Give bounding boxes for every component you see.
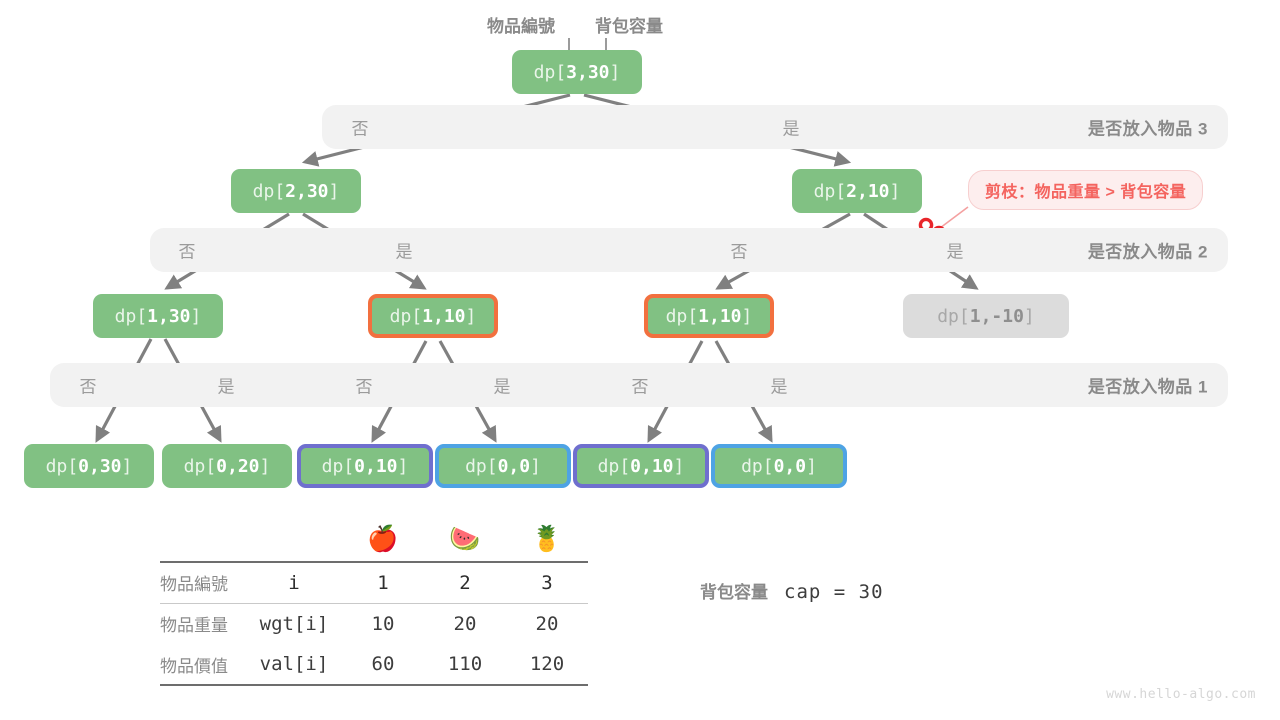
node-prefix: dp[ bbox=[937, 306, 970, 327]
diagram-canvas: 是否放入物品 3否是是否放入物品 2否是否是是否放入物品 1否是否是否是 dp[… bbox=[0, 0, 1280, 720]
node-args: 1,-10 bbox=[970, 306, 1024, 327]
top-label-1: 物品編號 bbox=[487, 12, 555, 37]
band-choice-label: 是 bbox=[771, 373, 788, 398]
node-prefix: dp[ bbox=[534, 62, 567, 83]
tree-node-dp1n10: dp[1,-10] bbox=[903, 294, 1069, 338]
decision-band-3: 是否放入物品 1否是否是否是 bbox=[50, 363, 1228, 407]
node-prefix: dp[ bbox=[465, 456, 498, 477]
items-table-wrapper: 🍎🍉🍍物品編號i123物品重量wgt[i]102020物品價值val[i]601… bbox=[160, 518, 588, 686]
table-cell: 60 bbox=[342, 644, 424, 685]
table-row-key: wgt[i] bbox=[246, 603, 342, 644]
table-item-emoji: 🍎 bbox=[342, 518, 424, 562]
tree-node-dp030: dp[0,30] bbox=[24, 444, 154, 488]
node-args: 2,10 bbox=[846, 181, 889, 202]
tree-node-dp00a: dp[0,0] bbox=[435, 444, 571, 488]
node-args: 3,30 bbox=[566, 62, 609, 83]
decision-band-1: 是否放入物品 3否是 bbox=[322, 105, 1228, 149]
table-row: 物品編號i123 bbox=[160, 562, 588, 603]
node-prefix: dp[ bbox=[46, 456, 79, 477]
prune-annotation: 剪枝：物品重量 > 背包容量 bbox=[968, 170, 1203, 210]
table-row: 物品重量wgt[i]102020 bbox=[160, 603, 588, 644]
band-title: 是否放入物品 3 bbox=[1088, 115, 1208, 140]
table-cell: 20 bbox=[424, 603, 506, 644]
node-suffix: ] bbox=[260, 456, 271, 477]
node-prefix: dp[ bbox=[666, 306, 699, 327]
capacity-note: 背包容量cap = 30 bbox=[700, 578, 884, 603]
table-emoji-spacer bbox=[246, 518, 342, 562]
band-choice-label: 否 bbox=[179, 238, 196, 263]
node-prefix: dp[ bbox=[390, 306, 423, 327]
tree-node-dp210: dp[2,10] bbox=[792, 169, 922, 213]
table-row-label: 物品價值 bbox=[160, 644, 246, 685]
node-suffix: ] bbox=[742, 306, 753, 327]
table-cell: 3 bbox=[506, 562, 588, 603]
table-item-emoji: 🍍 bbox=[506, 518, 588, 562]
node-suffix: ] bbox=[806, 456, 817, 477]
band-choice-label: 否 bbox=[731, 238, 748, 263]
tree-node-dp010b: dp[0,10] bbox=[573, 444, 709, 488]
band-choice-label: 否 bbox=[80, 373, 97, 398]
band-choice-label: 是 bbox=[783, 115, 800, 140]
band-choice-label: 是 bbox=[494, 373, 511, 398]
table-row-label: 物品編號 bbox=[160, 562, 246, 603]
capacity-note-label: 背包容量 bbox=[700, 583, 768, 602]
band-choice-label: 否 bbox=[632, 373, 649, 398]
node-suffix: ] bbox=[466, 306, 477, 327]
tree-node-dp130: dp[1,30] bbox=[93, 294, 223, 338]
band-choice-label: 是 bbox=[947, 238, 964, 263]
node-prefix: dp[ bbox=[322, 456, 355, 477]
items-table: 🍎🍉🍍物品編號i123物品重量wgt[i]102020物品價值val[i]601… bbox=[160, 518, 588, 686]
band-choice-label: 否 bbox=[352, 115, 369, 140]
node-prefix: dp[ bbox=[741, 456, 774, 477]
tree-node-dp330: dp[3,30] bbox=[512, 50, 642, 94]
decision-band-2: 是否放入物品 2否是否是 bbox=[150, 228, 1228, 272]
table-cell: 10 bbox=[342, 603, 424, 644]
node-args: 1,30 bbox=[147, 306, 190, 327]
table-cell: 1 bbox=[342, 562, 424, 603]
node-args: 2,30 bbox=[285, 181, 328, 202]
tree-node-dp020: dp[0,20] bbox=[162, 444, 292, 488]
node-suffix: ] bbox=[1024, 306, 1035, 327]
table-emoji-header-row: 🍎🍉🍍 bbox=[160, 518, 588, 562]
node-prefix: dp[ bbox=[598, 456, 631, 477]
band-title: 是否放入物品 1 bbox=[1088, 373, 1208, 398]
node-suffix: ] bbox=[890, 181, 901, 202]
table-cell: 20 bbox=[506, 603, 588, 644]
node-prefix: dp[ bbox=[115, 306, 148, 327]
tree-node-dp110a: dp[1,10] bbox=[368, 294, 498, 338]
tree-node-dp110b: dp[1,10] bbox=[644, 294, 774, 338]
node-prefix: dp[ bbox=[814, 181, 847, 202]
node-suffix: ] bbox=[329, 181, 340, 202]
node-args: 0,10 bbox=[630, 456, 673, 477]
table-emoji-spacer bbox=[160, 518, 246, 562]
table-cell: 110 bbox=[424, 644, 506, 685]
table-row-key: val[i] bbox=[246, 644, 342, 685]
table-row-label: 物品重量 bbox=[160, 603, 246, 644]
node-suffix: ] bbox=[122, 456, 133, 477]
node-suffix: ] bbox=[674, 456, 685, 477]
table-cell: 2 bbox=[424, 562, 506, 603]
band-choice-label: 是 bbox=[218, 373, 235, 398]
tree-node-dp010a: dp[0,10] bbox=[297, 444, 433, 488]
band-title: 是否放入物品 2 bbox=[1088, 238, 1208, 263]
band-choice-label: 否 bbox=[356, 373, 373, 398]
node-args: 0,0 bbox=[774, 456, 807, 477]
table-item-emoji: 🍉 bbox=[424, 518, 506, 562]
node-args: 0,30 bbox=[78, 456, 121, 477]
node-args: 0,20 bbox=[216, 456, 259, 477]
node-suffix: ] bbox=[398, 456, 409, 477]
table-row: 物品價值val[i]60110120 bbox=[160, 644, 588, 685]
node-prefix: dp[ bbox=[253, 181, 286, 202]
node-args: 1,10 bbox=[698, 306, 741, 327]
node-prefix: dp[ bbox=[184, 456, 217, 477]
band-choice-label: 是 bbox=[396, 238, 413, 263]
top-label-2: 背包容量 bbox=[595, 12, 663, 37]
tree-node-dp00b: dp[0,0] bbox=[711, 444, 847, 488]
node-suffix: ] bbox=[610, 62, 621, 83]
node-suffix: ] bbox=[191, 306, 202, 327]
watermark: www.hello-algo.com bbox=[1106, 687, 1256, 702]
tree-node-dp230: dp[2,30] bbox=[231, 169, 361, 213]
node-args: 0,10 bbox=[354, 456, 397, 477]
table-cell: 120 bbox=[506, 644, 588, 685]
node-suffix: ] bbox=[530, 456, 541, 477]
capacity-note-value: cap = 30 bbox=[784, 581, 884, 603]
node-args: 0,0 bbox=[498, 456, 531, 477]
node-args: 1,10 bbox=[422, 306, 465, 327]
table-row-key: i bbox=[246, 562, 342, 603]
